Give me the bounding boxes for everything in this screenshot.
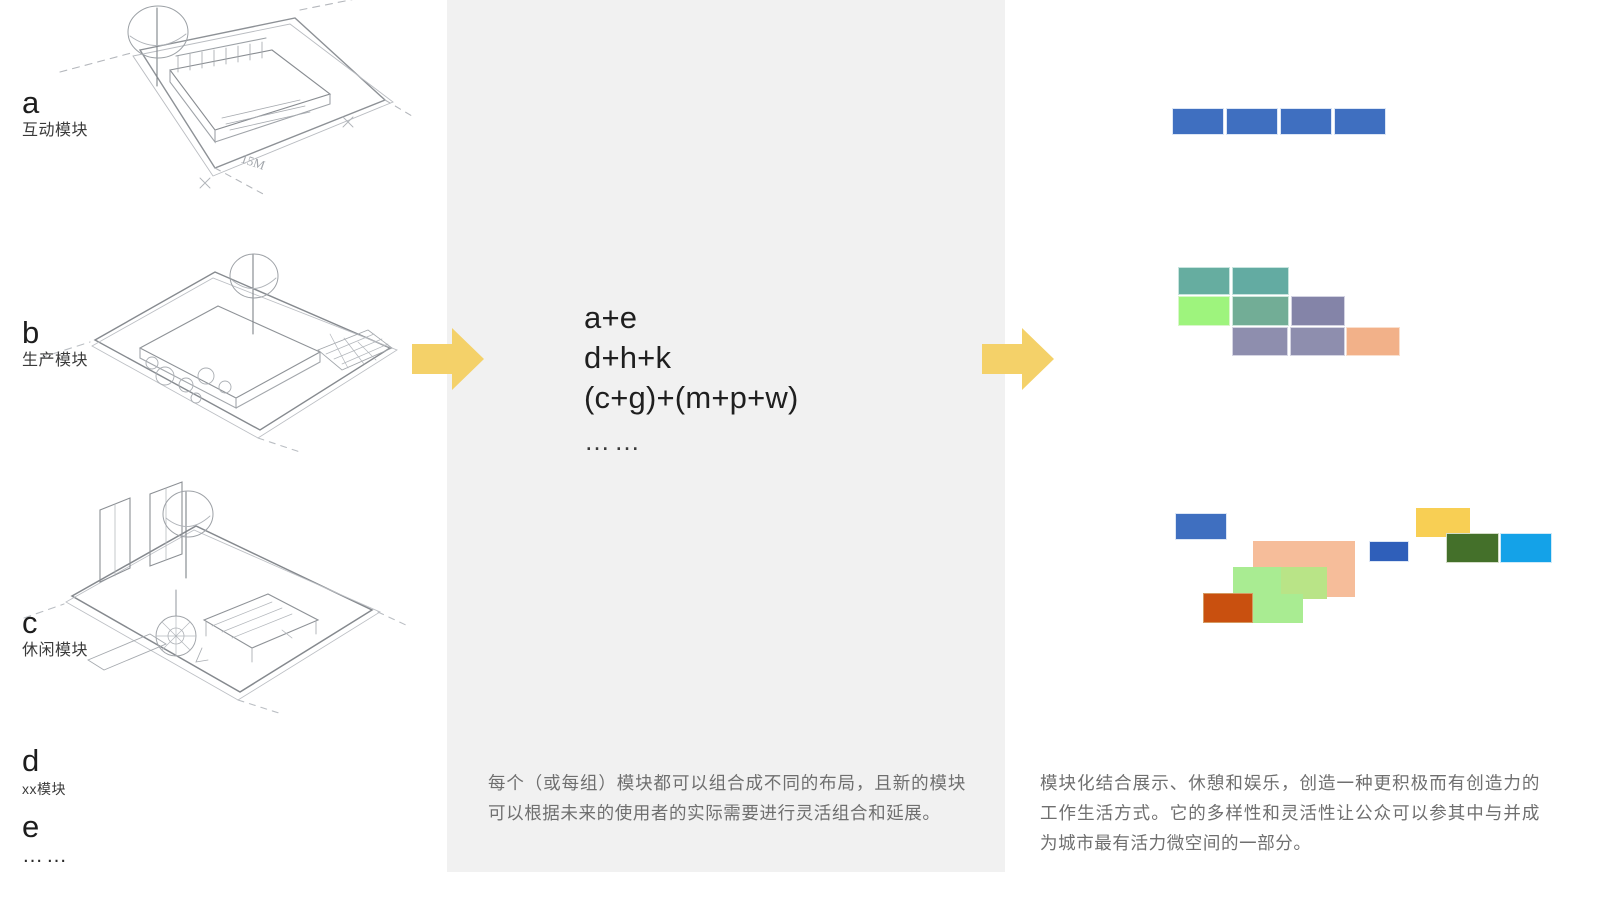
diagram-block [1178, 267, 1230, 295]
formula-line-2: d+h+k [584, 338, 799, 378]
module-label-b: b 生产模块 [22, 318, 88, 372]
module-letter-c: c [22, 608, 88, 638]
diagram-block [1232, 296, 1289, 326]
sketch-c-drawing [0, 470, 420, 720]
formula-block: a+e d+h+k (c+g)+(m+p+w) …… [584, 298, 799, 464]
module-label-c: c 休闲模块 [22, 608, 88, 662]
caption-center: 每个（或每组）模块都可以组合成不同的布局，且新的模块可以根据未来的使用者的实际需… [488, 768, 966, 828]
sketch-module-c [0, 470, 420, 720]
diagram-block [1291, 296, 1345, 326]
sketch-a-dimension: 15M [239, 151, 268, 173]
module-label-a: a 互动模块 [22, 88, 88, 142]
module-name-b: 生产模块 [22, 350, 88, 372]
formula-ellipsis: …… [584, 418, 799, 464]
diagram-block [1334, 108, 1386, 135]
arrow-1 [412, 328, 484, 395]
diagram-block [1172, 108, 1224, 135]
diagram-block [1232, 327, 1288, 356]
diagram-block [1253, 594, 1303, 623]
diagram-block [1346, 327, 1400, 356]
diagram-block [1178, 296, 1230, 326]
diagram-block [1203, 593, 1253, 623]
diagram-block [1290, 327, 1345, 356]
module-name-e: …… [22, 848, 70, 864]
module-name-a: 互动模块 [22, 120, 88, 142]
diagram-block [1500, 533, 1552, 563]
module-name-d: xx模块 [22, 778, 66, 800]
diagram-block [1369, 541, 1409, 562]
diagram-block [1175, 513, 1227, 540]
diagram-block [1226, 108, 1278, 135]
formula-line-1: a+e [584, 298, 799, 338]
module-letter-a: a [22, 88, 88, 118]
diagram-block [1446, 533, 1499, 563]
module-letter-d: d [22, 746, 66, 776]
module-letter-e: e [22, 812, 70, 842]
diagram-block [1280, 108, 1332, 135]
sketch-column: 15M [0, 0, 447, 900]
arrow-right-icon [412, 328, 484, 390]
module-letter-b: b [22, 318, 88, 348]
module-name-c: 休闲模块 [22, 640, 88, 662]
formula-line-3: (c+g)+(m+p+w) [584, 378, 799, 418]
module-label-e: e …… [22, 812, 70, 864]
diagram-column [1005, 0, 1600, 900]
module-label-d: d xx模块 [22, 746, 66, 800]
diagram-block [1232, 267, 1289, 295]
